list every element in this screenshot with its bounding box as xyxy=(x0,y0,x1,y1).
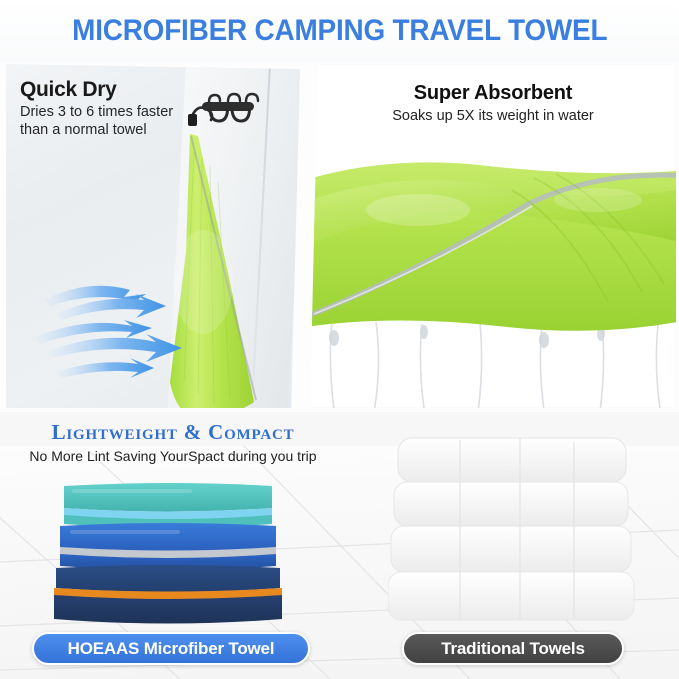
panel-super-absorbent: Super Absorbent Soaks up 5X its weight i… xyxy=(310,64,676,408)
lightweight-subtext: No More Lint Saving YourSpact during you… xyxy=(8,448,338,464)
traditional-towel-stack xyxy=(388,434,638,630)
hoeaas-towel-label: HOEAAS Microfiber Towel xyxy=(32,632,310,665)
quick-dry-text-block: Quick Dry Dries 3 to 6 times faster than… xyxy=(20,78,173,139)
quick-dry-heading: Quick Dry xyxy=(20,78,173,102)
quick-dry-subtext-line1: Dries 3 to 6 times faster xyxy=(20,104,173,122)
lightweight-heading: Lightweight & Compact xyxy=(8,420,338,445)
page-title: MICROFIBER CAMPING TRAVEL TOWEL xyxy=(72,14,607,48)
hoeaas-towel-label-text: HOEAAS Microfiber Towel xyxy=(68,639,275,659)
microfiber-towel-stack xyxy=(42,480,294,628)
super-absorbent-text-block: Super Absorbent Soaks up 5X its weight i… xyxy=(310,82,676,124)
traditional-towel-label: Traditional Towels xyxy=(402,632,624,665)
lightweight-text-block: Lightweight & Compact No More Lint Savin… xyxy=(8,420,338,464)
wet-green-towel xyxy=(310,152,676,352)
panel-quick-dry: Quick Dry Dries 3 to 6 times faster than… xyxy=(6,64,300,408)
super-absorbent-subtext: Soaks up 5X its weight in water xyxy=(310,108,676,124)
super-absorbent-heading: Super Absorbent xyxy=(310,82,676,105)
product-infographic: MICROFIBER CAMPING TRAVEL TOWEL Quick Dr… xyxy=(0,0,679,679)
wall-hook-rack-icon xyxy=(184,90,270,138)
title-bar: MICROFIBER CAMPING TRAVEL TOWEL xyxy=(0,0,679,62)
airflow-arrows-icon xyxy=(26,264,206,394)
traditional-towel-label-text: Traditional Towels xyxy=(441,639,584,659)
quick-dry-subtext-line2: than a normal towel xyxy=(20,122,173,140)
